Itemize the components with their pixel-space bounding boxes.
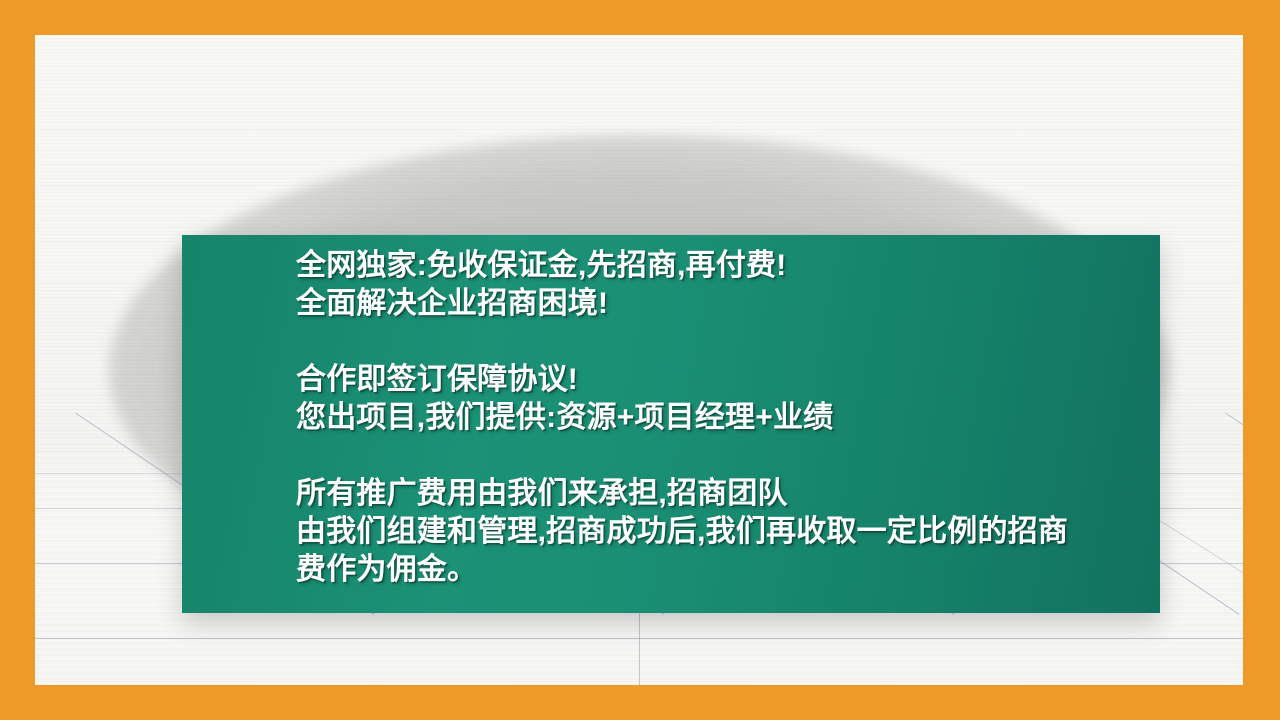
middle-line-1: 合作即签订保障协议! [296,361,1140,399]
message-copy: 全网独家:免收保证金,先招商,再付费! 全面解决企业招商困境! 合作即签订保障协… [296,247,1140,589]
middle-line-2: 您出项目,我们提供:资源+项目经理+业绩 [296,399,1140,437]
bottom-line-1: 所有推广费用由我们来承担,招商团队 [296,475,1140,513]
paragraph-spacer [296,437,1140,475]
bottom-line-2: 由我们组建和管理,招商成功后,我们再收取一定比例的招商 [296,513,1140,551]
headline-line-2: 全面解决企业招商困境! [296,285,1140,323]
bottom-line-3: 费作为佣金。 [296,551,1140,589]
poster-canvas: 全网独家:免收保证金,先招商,再付费! 全面解决企业招商困境! 合作即签订保障协… [0,0,1280,720]
headline-line-1: 全网独家:免收保证金,先招商,再付费! [296,247,1140,285]
paragraph-spacer [296,323,1140,361]
room-backdrop: 全网独家:免收保证金,先招商,再付费! 全面解决企业招商困境! 合作即签订保障协… [35,35,1243,685]
message-panel: 全网独家:免收保证金,先招商,再付费! 全面解决企业招商困境! 合作即签订保障协… [182,235,1160,613]
